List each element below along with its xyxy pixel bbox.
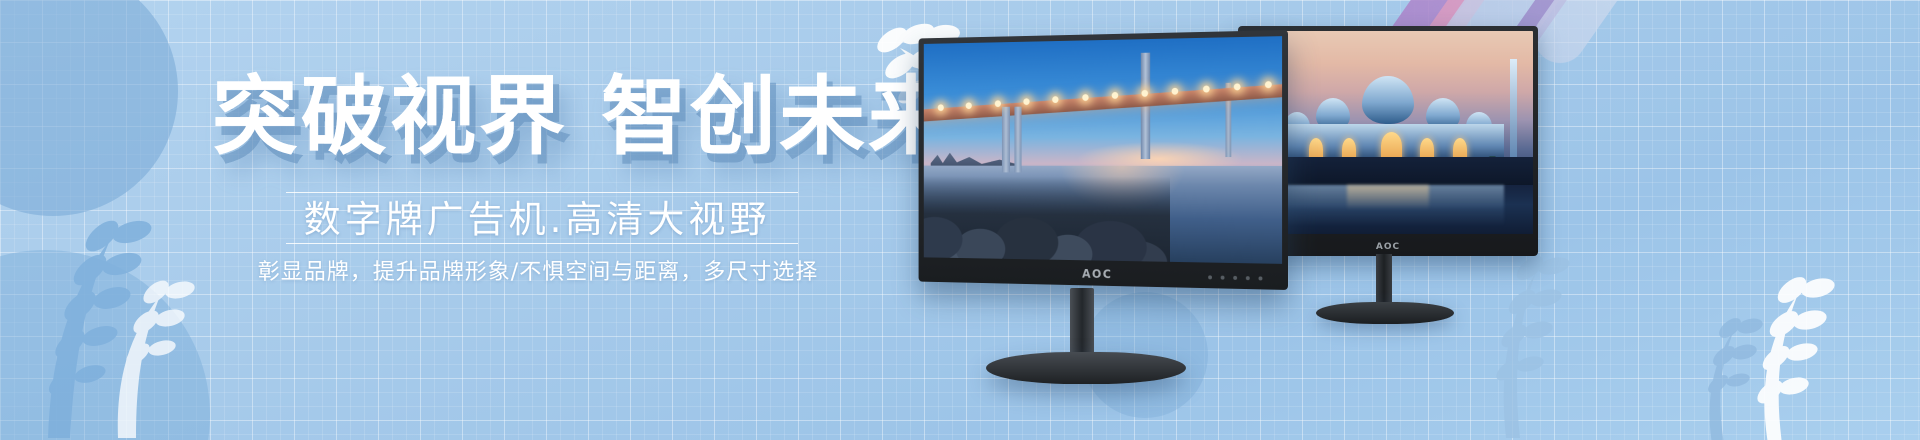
- bridge-scene: [924, 36, 1282, 264]
- headline: 突破视界 智创未来: [212, 74, 957, 160]
- monitor-screen: [924, 36, 1282, 264]
- divider-top: [286, 192, 798, 193]
- monitor-stand-neck: [1070, 288, 1094, 362]
- monitor-stand-base: [1316, 302, 1454, 324]
- monitor-stand-neck: [1376, 254, 1392, 308]
- monitor-left: AOC: [888, 30, 1308, 390]
- monitor-stand-base: [986, 352, 1186, 384]
- promo-banner: 突破视界 智创未来 数字牌广告机.高清大视野 彰显品牌，提升品牌形象/不惧空间与…: [0, 0, 1920, 440]
- brand-logo-left: AOC: [919, 264, 1288, 285]
- product-images: AOC: [880, 0, 1920, 440]
- text-block: 突破视界 智创未来 数字牌广告机.高清大视野 彰显品牌，提升品牌形象/不惧空间与…: [0, 0, 900, 440]
- monitor-bezel: AOC: [919, 30, 1288, 290]
- divider-bottom: [286, 243, 798, 244]
